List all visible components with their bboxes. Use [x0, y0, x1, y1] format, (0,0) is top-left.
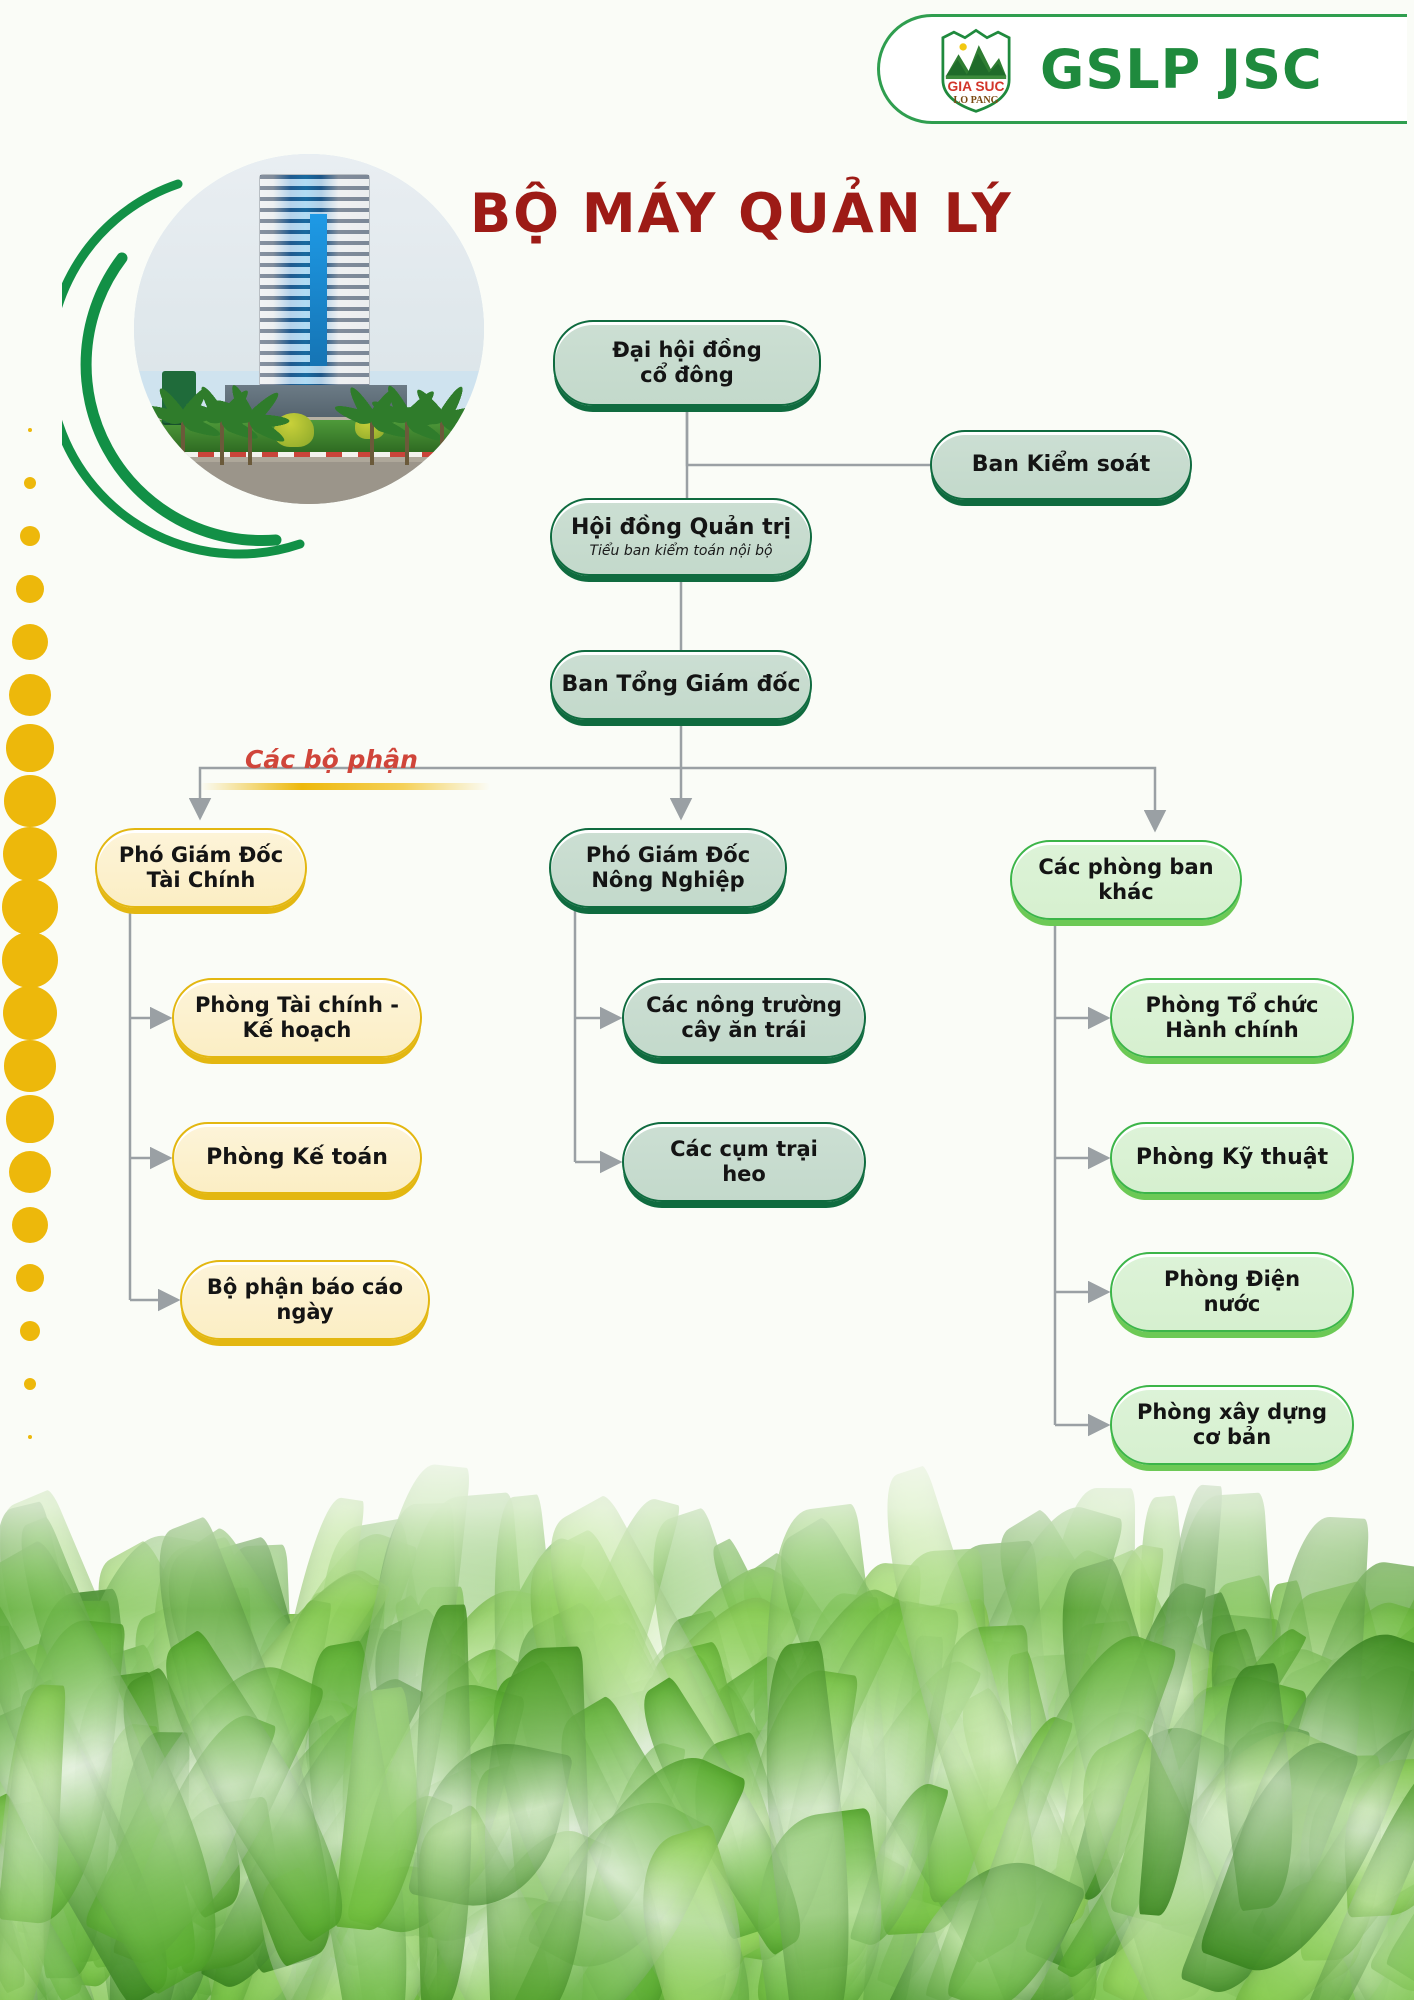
chart-node-p-tckh: Phòng Tài chính -Kế hoạch [172, 978, 422, 1058]
chart-node-label-line2: cổ đông [640, 363, 734, 388]
chart-node-label: Phó Giám Đốc [586, 843, 750, 868]
chart-node-bks: Ban Kiểm soát [930, 430, 1192, 500]
chart-node-label: Phòng Kỹ thuật [1136, 1145, 1328, 1171]
brand-name: GSLP JSC [1040, 38, 1323, 101]
chart-node-label-line2: Tài Chính [147, 868, 256, 893]
chart-node-btgd: Ban Tổng Giám đốc [550, 650, 812, 720]
chart-node-cct-heo: Các cụm trạiheo [622, 1122, 866, 1202]
chart-node-hdqt: Hội đồng Quản trịTiểu ban kiểm toán nội … [550, 498, 812, 576]
section-label-underline [200, 783, 490, 790]
chart-node-subtitle: Tiểu ban kiểm toán nội bộ [589, 543, 772, 560]
chart-node-label: Bộ phận báo cáo [207, 1275, 403, 1300]
chart-node-p-dn: Phòng Điệnnước [1110, 1252, 1354, 1332]
logo-line2: LO PANG [953, 95, 998, 106]
chart-node-label: Phòng Tổ chức [1146, 993, 1319, 1018]
logo-line1: GIA SUC [948, 79, 1005, 94]
chart-node-label: Phó Giám Đốc [119, 843, 283, 868]
chart-node-label-line2: nước [1204, 1292, 1261, 1317]
mountain-shield-logo-icon: GIA SUC LO PANG [930, 23, 1022, 115]
chart-node-label: Ban Tổng Giám đốc [561, 672, 800, 698]
brand-header-badge: GIA SUC LO PANG GSLP JSC [877, 14, 1407, 124]
chart-node-label: Hội đồng Quản trị [571, 515, 791, 541]
chart-node-dhdcd: Đại hội đồngcổ đông [553, 320, 821, 406]
chart-node-label: Các nông trường [646, 993, 842, 1018]
chart-node-bp-bcn: Bộ phận báo cáongày [180, 1260, 430, 1340]
chart-node-label: Các cụm trại [670, 1137, 818, 1162]
chart-node-p-kt: Phòng Kế toán [172, 1122, 422, 1194]
chart-node-pgd-nn: Phó Giám ĐốcNông Nghiệp [549, 828, 787, 908]
chart-node-pgd-tc: Phó Giám ĐốcTài Chính [95, 828, 307, 908]
chart-node-label-line2: Nông Nghiệp [591, 868, 744, 893]
chart-node-cnt-cat: Các nông trườngcây ăn trái [622, 978, 866, 1058]
leaf-background-photo [0, 1440, 1414, 2000]
chart-node-label-line2: khác [1098, 880, 1154, 905]
chart-node-label: Ban Kiểm soát [972, 452, 1151, 478]
chart-node-label: Phòng Tài chính - [195, 993, 399, 1018]
chart-node-p-kth: Phòng Kỹ thuật [1110, 1122, 1354, 1194]
chart-node-label-line2: ngày [276, 1300, 333, 1325]
chart-node-label-line2: heo [722, 1162, 766, 1187]
section-label-departments: Các bộ phận [245, 745, 418, 774]
chart-node-label-line2: cơ bản [1193, 1425, 1271, 1450]
chart-node-label: Đại hội đồng [612, 338, 762, 363]
chart-node-p-tchc: Phòng Tổ chứcHành chính [1110, 978, 1354, 1058]
chart-node-label-line2: Kế hoạch [243, 1018, 352, 1043]
chart-node-cpb: Các phòng bankhác [1010, 840, 1242, 920]
chart-node-label-line2: cây ăn trái [681, 1018, 806, 1043]
chart-node-p-xdcb: Phòng xây dựngcơ bản [1110, 1385, 1354, 1465]
chart-node-label: Phòng xây dựng [1137, 1400, 1327, 1425]
chart-node-label: Phòng Kế toán [206, 1145, 388, 1171]
chart-node-label-line2: Hành chính [1165, 1018, 1298, 1043]
chart-node-label: Các phòng ban [1038, 855, 1213, 880]
chart-node-label: Phòng Điện [1164, 1267, 1300, 1292]
org-chart: Đại hội đồngcổ đôngBan Kiểm soátHội đồng… [0, 0, 1414, 1480]
